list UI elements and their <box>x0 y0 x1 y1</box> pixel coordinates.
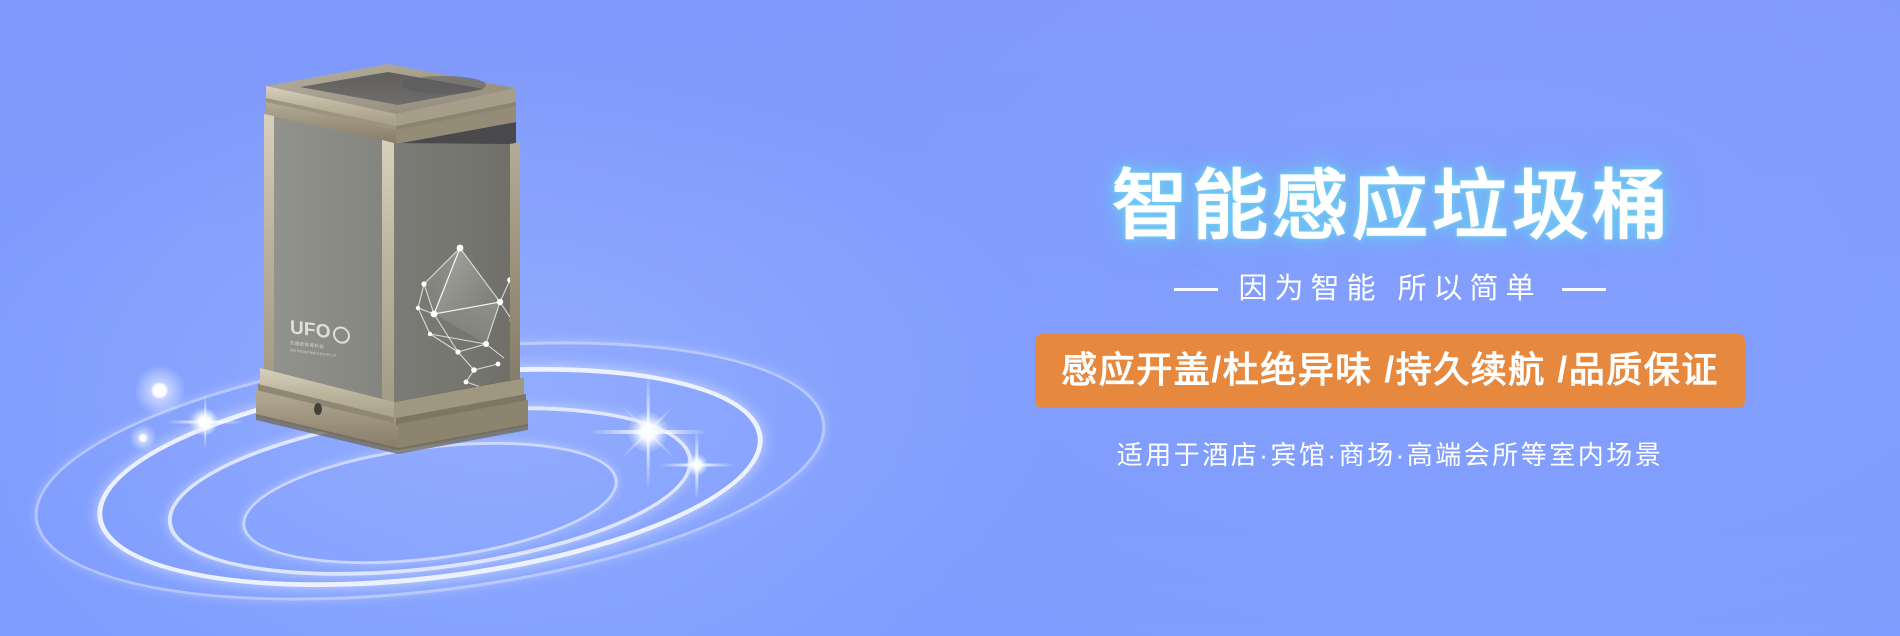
glow-dot-icon <box>198 417 207 426</box>
feature-badge: 感应开盖/杜绝异味 /持久续航 /品质保证 <box>1035 334 1745 408</box>
glow-dot-icon <box>152 383 167 398</box>
smart-trash-bin-image <box>248 52 548 442</box>
dash-right-icon <box>1562 288 1606 291</box>
dash-left-icon <box>1174 288 1218 291</box>
banner-tagline: 适用于酒店·宾馆·商场·高端会所等室内场景 <box>1117 442 1663 468</box>
brand-ring-icon <box>333 325 350 344</box>
brand-mark-text: UFO <box>290 318 331 342</box>
banner-headline: 智能感应垃圾桶 <box>1108 169 1672 245</box>
product-stage: UFO 优福欧智能科技 深圳市优福欧智能科技有限公司 <box>0 0 880 636</box>
glow-dot-icon <box>139 434 147 442</box>
product-banner: UFO 优福欧智能科技 深圳市优福欧智能科技有限公司 智能感应垃圾桶 因为智能 … <box>0 0 1900 636</box>
product-brand-logo: UFO 优福欧智能科技 深圳市优福欧智能科技有限公司 <box>290 318 352 372</box>
banner-copy: 智能感应垃圾桶 因为智能 所以简单 感应开盖/杜绝异味 /持久续航 /品质保证 … <box>880 0 1900 636</box>
banner-subline: 因为智能 所以简单 <box>1174 275 1605 304</box>
banner-subline-text: 因为智能 所以简单 <box>1238 275 1541 304</box>
